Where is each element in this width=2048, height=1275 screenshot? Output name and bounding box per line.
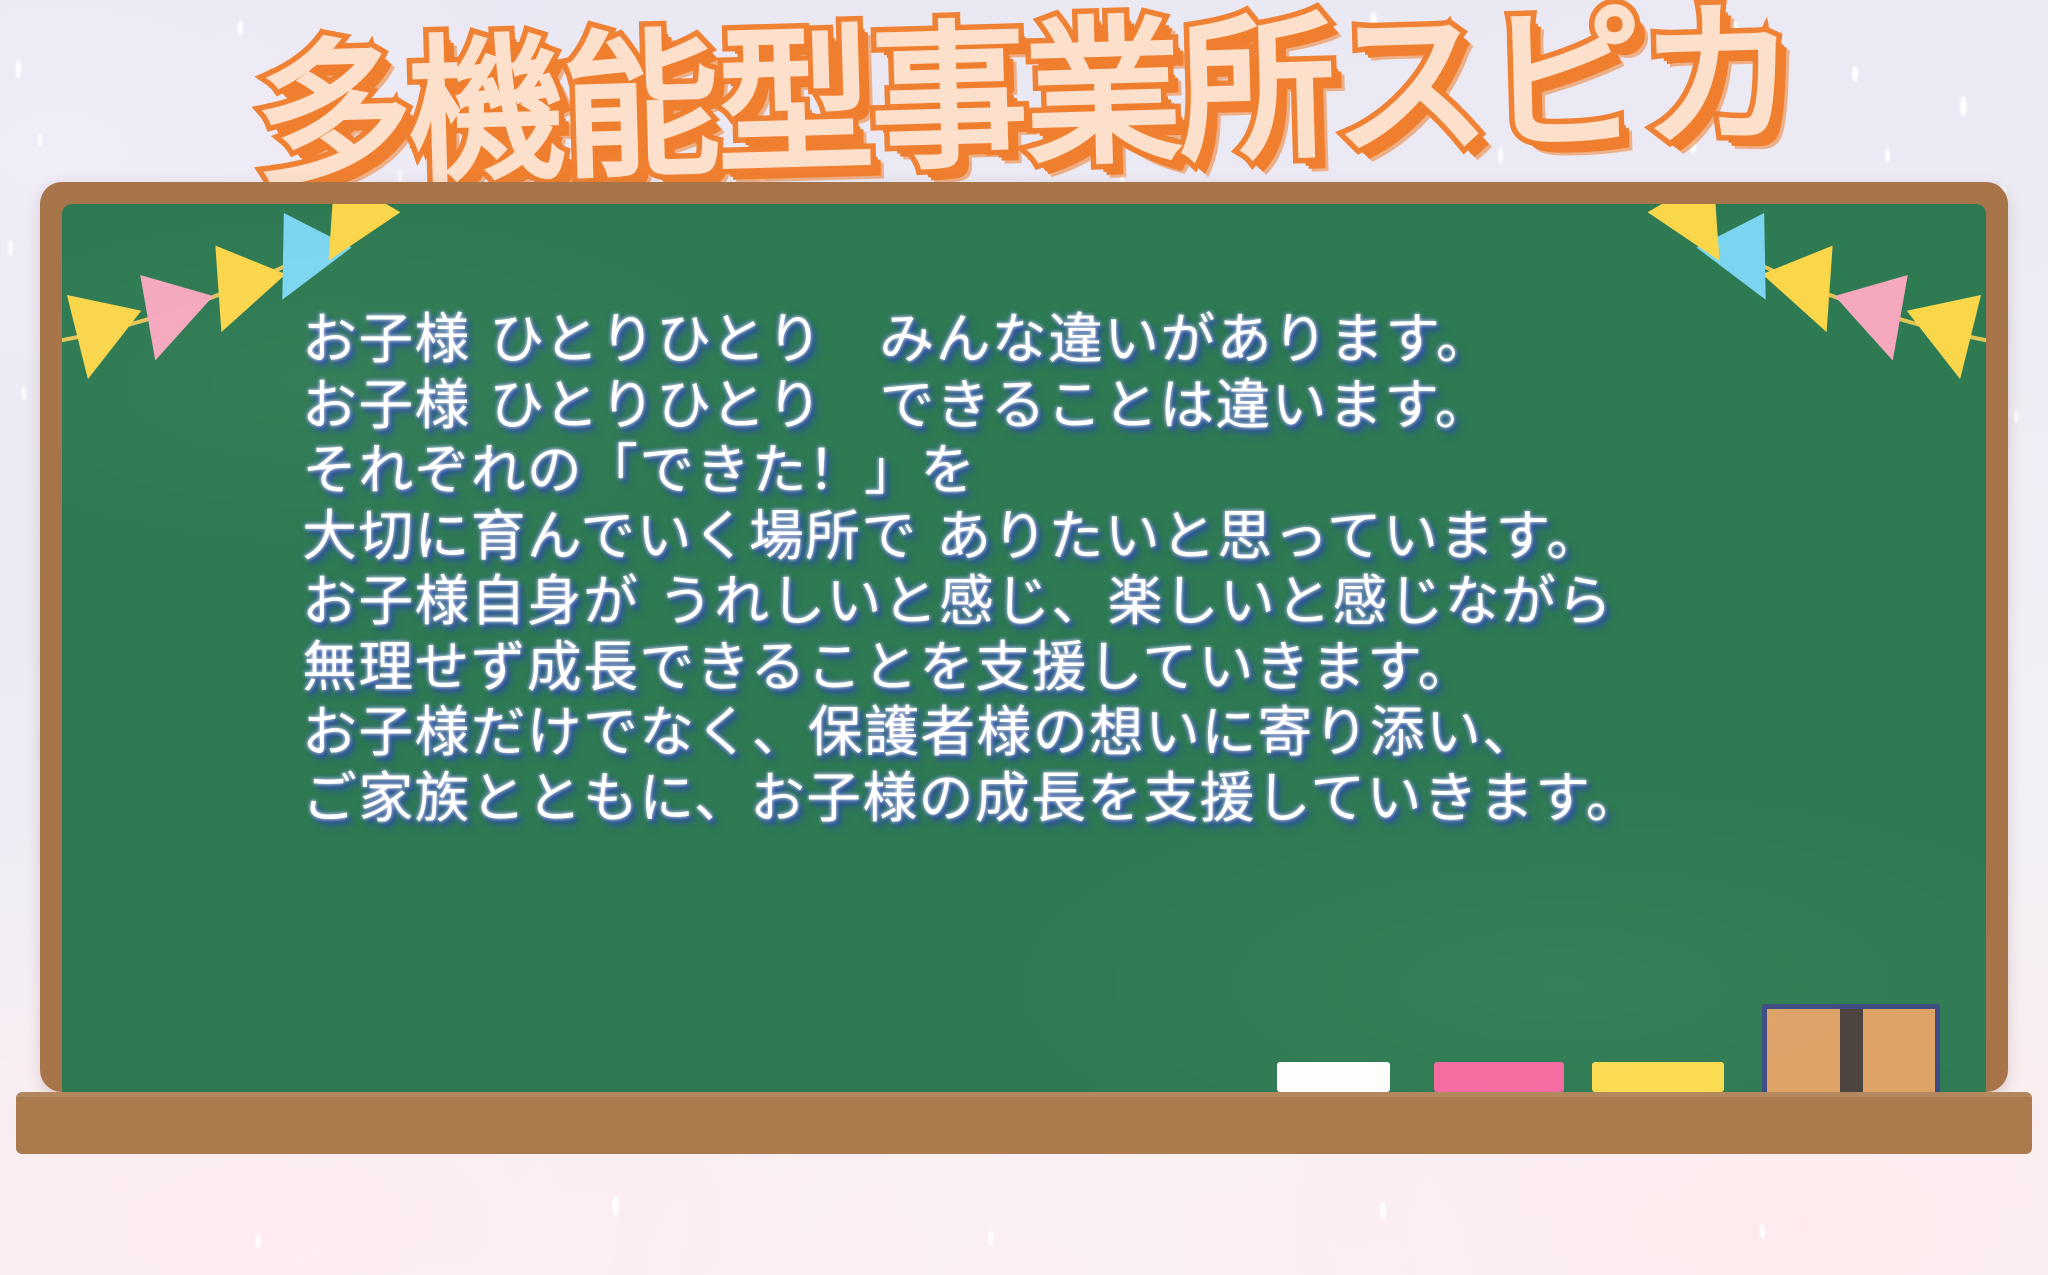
blackboard-surface: お子様 ひとりひとり みんな違いがあります。 お子様 ひとりひとり できることは… xyxy=(62,204,1986,1092)
chalk-stick-yellow[interactable] xyxy=(1592,1062,1724,1092)
blackboard-message: お子様 ひとりひとり みんな違いがあります。 お子様 ひとりひとり できることは… xyxy=(302,307,1982,831)
page-title: 多機能型事業所スピカ xyxy=(252,0,1796,197)
message-line: お子様 ひとりひとり できることは違います。 xyxy=(302,373,1982,439)
blackboard-ledge xyxy=(16,1092,2032,1154)
message-line: ご家族とともに、お子様の成長を支援していきます。 xyxy=(302,766,1982,832)
chalk-stick-pink[interactable] xyxy=(1434,1062,1564,1092)
message-line: それぞれの「できた！」を xyxy=(302,438,1982,504)
message-line: お子様自身が うれしいと感じ、楽しいと感じながら xyxy=(302,569,1982,635)
message-line: お子様だけでなく、保護者様の想いに寄り添い、 xyxy=(302,700,1982,766)
chalk-stick-white[interactable] xyxy=(1277,1062,1390,1092)
message-line: 無理せず成長できることを支援していきます。 xyxy=(302,635,1982,701)
eraser-band xyxy=(1840,1009,1863,1092)
poster-canvas: 多機能型事業所スピカ xyxy=(0,0,2048,1275)
blackboard-frame: お子様 ひとりひとり みんな違いがあります。 お子様 ひとりひとり できることは… xyxy=(40,182,2008,1092)
message-line: お子様 ひとりひとり みんな違いがあります。 xyxy=(302,307,1982,373)
blackboard-eraser[interactable] xyxy=(1762,1004,1940,1092)
message-line: 大切に育んでいく場所で ありたいと思っています。 xyxy=(302,504,1982,570)
